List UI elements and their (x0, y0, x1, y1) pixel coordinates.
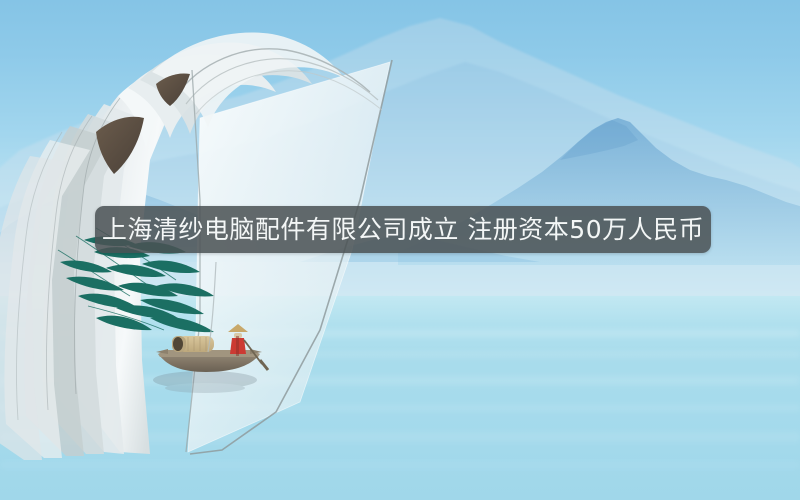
illustration-banner-canvas: 上海清纱电脑配件有限公司成立 注册资本50万人民币 (0, 0, 800, 500)
boat-reflection (153, 371, 257, 393)
headline-banner: 上海清纱电脑配件有限公司成立 注册资本50万人民币 (95, 206, 711, 253)
headline-text: 上海清纱电脑配件有限公司成立 注册资本50万人民币 (102, 217, 704, 242)
boat-cabin (172, 336, 214, 352)
boat-hull (156, 349, 262, 372)
